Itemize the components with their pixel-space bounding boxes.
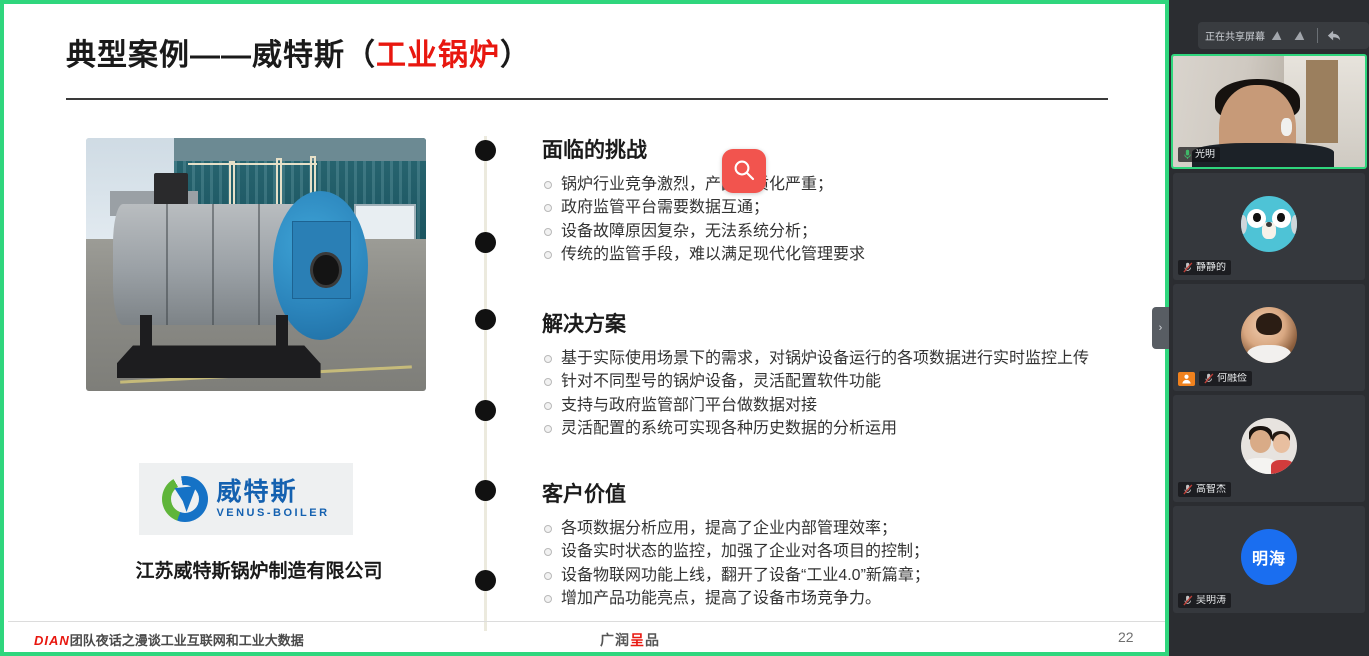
company-name: 江苏威特斯锅炉制造有限公司 xyxy=(86,556,432,583)
participant-name-bar: 光明 xyxy=(1178,147,1220,162)
footer-center-red: 呈 xyxy=(630,632,645,648)
participant-avatar xyxy=(1241,418,1297,474)
participant-name: 光明 xyxy=(1195,149,1215,160)
slide-title-main: 典型案例——威特斯（ xyxy=(66,39,376,72)
timeline-axis xyxy=(484,136,487,631)
meeting-screen-share-window: 典型案例——威特斯（工业锅炉） xyxy=(0,0,1369,656)
section-heading: 客户价值 xyxy=(542,478,930,508)
footer-left-label: 团队夜话之漫谈工业互联网和工业大数据 xyxy=(70,633,304,648)
microphone-muted-icon xyxy=(1183,595,1193,606)
footer-center-suffix: 品 xyxy=(645,632,660,648)
participant-name: 何融俭 xyxy=(1217,373,1247,384)
toolbar-separator xyxy=(1317,28,1318,43)
microphone-muted-icon xyxy=(1204,373,1214,384)
microphone-muted-icon xyxy=(1183,262,1193,273)
dian-brand: DIAN xyxy=(34,633,70,648)
participant-tile[interactable]: 光明 xyxy=(1171,54,1367,169)
mic-status-chip: 高智杰 xyxy=(1178,482,1231,497)
slide-title-accent: 工业锅炉 xyxy=(376,39,500,72)
participant-tile[interactable]: 高智杰 xyxy=(1173,395,1365,502)
section-solution: 解决方案 基于实际使用场景下的需求，对锅炉设备运行的各项数据进行实时监控上传 针… xyxy=(542,308,1089,440)
timeline-dot xyxy=(475,480,496,501)
search-magnifier-icon[interactable] xyxy=(722,149,766,193)
logo-mark-icon xyxy=(162,476,208,522)
shared-content-frame: 典型案例——威特斯（工业锅炉） xyxy=(0,0,1169,656)
section-heading: 面临的挑战 xyxy=(542,134,865,164)
share-screen-icon[interactable] xyxy=(1271,29,1287,43)
leave-arrow-icon[interactable] xyxy=(1326,29,1342,43)
microphone-muted-icon xyxy=(1183,484,1193,495)
list-item: 政府监管平台需要数据互通； xyxy=(542,196,865,219)
participant-name: 高智杰 xyxy=(1196,484,1226,495)
slide-title-tail: ） xyxy=(500,39,531,72)
timeline-dot xyxy=(475,400,496,421)
footer-left-text: DIAN团队夜话之漫谈工业互联网和工业大数据 xyxy=(34,630,304,649)
participant-name-bar: 何融俭 xyxy=(1178,371,1252,386)
logo-en-text: VENUS-BOILER xyxy=(216,508,329,519)
list-item: 灵活配置的系统可实现各种历史数据的分析运用 xyxy=(542,417,1089,440)
list-item: 设备故障原因复杂，无法系统分析； xyxy=(542,220,865,243)
list-item: 增加产品功能亮点，提高了设备市场竞争力。 xyxy=(542,587,930,610)
participant-name: 静静的 xyxy=(1196,262,1226,273)
mic-status-chip: 光明 xyxy=(1178,147,1220,162)
collapse-panel-button[interactable]: › xyxy=(1152,307,1169,349)
participant-tile[interactable]: 明海 吴明涛 xyxy=(1173,506,1365,613)
mic-status-chip: 何融俭 xyxy=(1199,371,1252,386)
chevron-right-icon: › xyxy=(1159,323,1163,334)
annotate-icon[interactable] xyxy=(1293,29,1309,43)
microphone-on-icon xyxy=(1183,149,1192,160)
list-item: 传统的监管手段，难以满足现代化管理要求 xyxy=(542,243,865,266)
participant-avatar xyxy=(1241,196,1297,252)
section-bullet-list: 各项数据分析应用，提高了企业内部管理效率； 设备实时状态的监控，加强了企业对各项… xyxy=(542,517,930,610)
participant-name-bar: 高智杰 xyxy=(1178,482,1231,497)
participant-name: 吴明涛 xyxy=(1196,595,1226,606)
section-heading: 解决方案 xyxy=(542,308,1089,338)
participant-tile[interactable]: 何融俭 xyxy=(1173,284,1365,391)
participant-name-bar: 静静的 xyxy=(1178,260,1231,275)
participant-avatar xyxy=(1241,307,1297,363)
participant-avatar: 明海 xyxy=(1241,529,1297,585)
screen-share-toolbar[interactable]: 正在共享屏幕 xyxy=(1198,22,1369,49)
venus-boiler-logo: 威特斯 VENUS-BOILER xyxy=(139,463,353,535)
footer-center-text: 广润呈品 xyxy=(600,630,660,650)
participant-tile[interactable]: 静静的 xyxy=(1173,173,1365,280)
list-item: 各项数据分析应用，提高了企业内部管理效率； xyxy=(542,517,930,540)
slide-title: 典型案例——威特斯（工业锅炉） xyxy=(66,30,531,74)
logo-cn-text: 威特斯 xyxy=(216,480,329,505)
timeline-dot xyxy=(475,570,496,591)
list-item: 针对不同型号的锅炉设备，灵活配置软件功能 xyxy=(542,370,1089,393)
host-person-icon xyxy=(1181,374,1192,384)
participant-name-bar: 吴明涛 xyxy=(1178,593,1231,608)
list-item: 锅炉行业竞争激烈，产品同质化严重； xyxy=(542,173,865,196)
footer-divider xyxy=(8,621,1169,622)
participant-rail[interactable]: 光明 静静的 xyxy=(1169,0,1369,656)
section-customer-value: 客户价值 各项数据分析应用，提高了企业内部管理效率； 设备实时状态的监控，加强了… xyxy=(542,478,930,610)
mic-status-chip: 吴明涛 xyxy=(1178,593,1231,608)
section-bullet-list: 基于实际使用场景下的需求，对锅炉设备运行的各项数据进行实时监控上传 针对不同型号… xyxy=(542,347,1089,440)
title-divider xyxy=(66,98,1108,100)
timeline-dot xyxy=(475,232,496,253)
host-badge xyxy=(1178,372,1195,386)
boiler-photo xyxy=(86,138,426,391)
slide-page-number: 22 xyxy=(1118,629,1134,645)
share-status-label: 正在共享屏幕 xyxy=(1205,28,1265,43)
mic-status-chip: 静静的 xyxy=(1178,260,1231,275)
list-item: 设备物联网功能上线，翻开了设备“工业4.0”新篇章； xyxy=(542,564,930,587)
list-item: 支持与政府监管部门平台做数据对接 xyxy=(542,394,1089,417)
timeline-dot xyxy=(475,140,496,161)
list-item: 设备实时状态的监控，加强了企业对各项目的控制； xyxy=(542,540,930,563)
section-challenges: 面临的挑战 锅炉行业竞争激烈，产品同质化严重； 政府监管平台需要数据互通； 设备… xyxy=(542,134,865,266)
presentation-slide: 典型案例——威特斯（工业锅炉） xyxy=(8,8,1169,656)
list-item: 基于实际使用场景下的需求，对锅炉设备运行的各项数据进行实时监控上传 xyxy=(542,347,1089,370)
footer-center-prefix: 广润 xyxy=(600,632,630,648)
section-bullet-list: 锅炉行业竞争激烈，产品同质化严重； 政府监管平台需要数据互通； 设备故障原因复杂… xyxy=(542,173,865,266)
